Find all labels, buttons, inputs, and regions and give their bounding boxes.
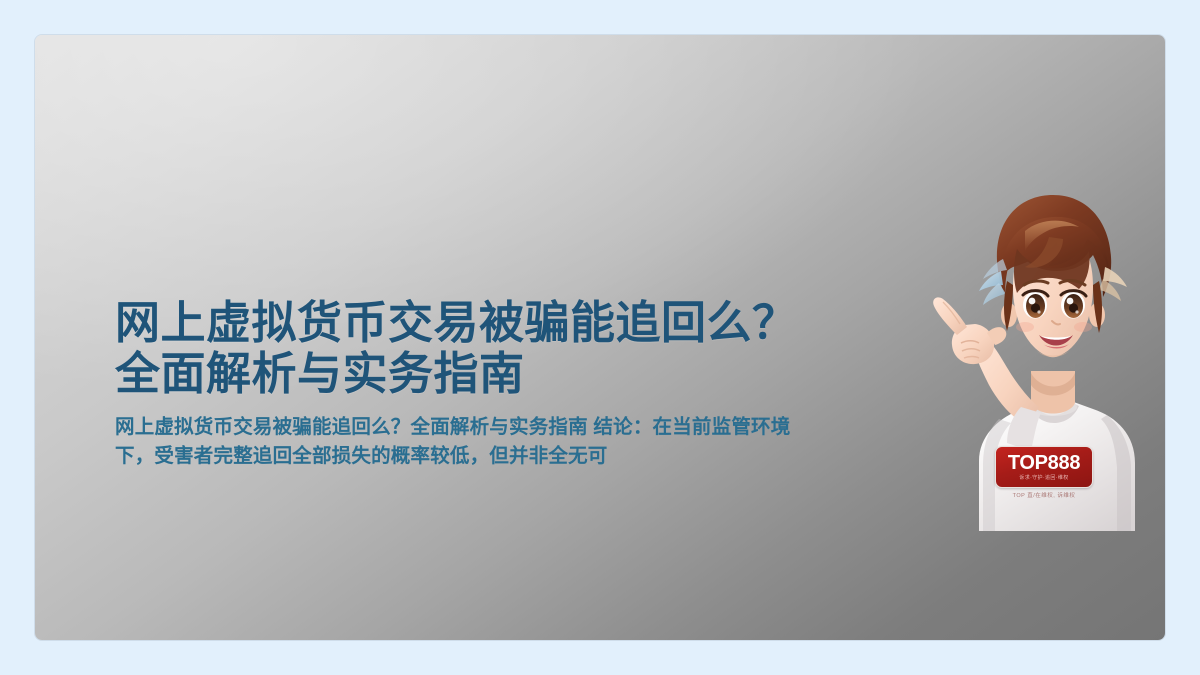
shirt-badge-caption: TOP 直/在维权, 诉维权: [995, 491, 1093, 499]
page-background: TOP888 诉求·守护·追回·维权 TOP 直/在维权, 诉维权 网上虚拟货币…: [0, 0, 1200, 675]
shirt-badge-main-text: TOP888: [1008, 453, 1080, 473]
slide-title: 网上虚拟货币交易被骗能追回么？全面解析与实务指南: [115, 297, 825, 400]
shirt-badge: TOP888 诉求·守护·追回·维权: [995, 446, 1093, 488]
index-finger: [933, 297, 967, 335]
slide-card: TOP888 诉求·守护·追回·维权 TOP 直/在维权, 诉维权 网上虚拟货币…: [35, 35, 1165, 640]
slide-subtitle: 网上虚拟货币交易被骗能追回么？全面解析与实务指南 结论：在当前监管环境下，受害者…: [115, 413, 815, 472]
slide-text-block: 网上虚拟货币交易被骗能追回么？全面解析与实务指南 网上虚拟货币交易被骗能追回么？…: [115, 297, 825, 472]
shirt-badge-sub-text: 诉求·守护·追回·维权: [1019, 476, 1068, 481]
